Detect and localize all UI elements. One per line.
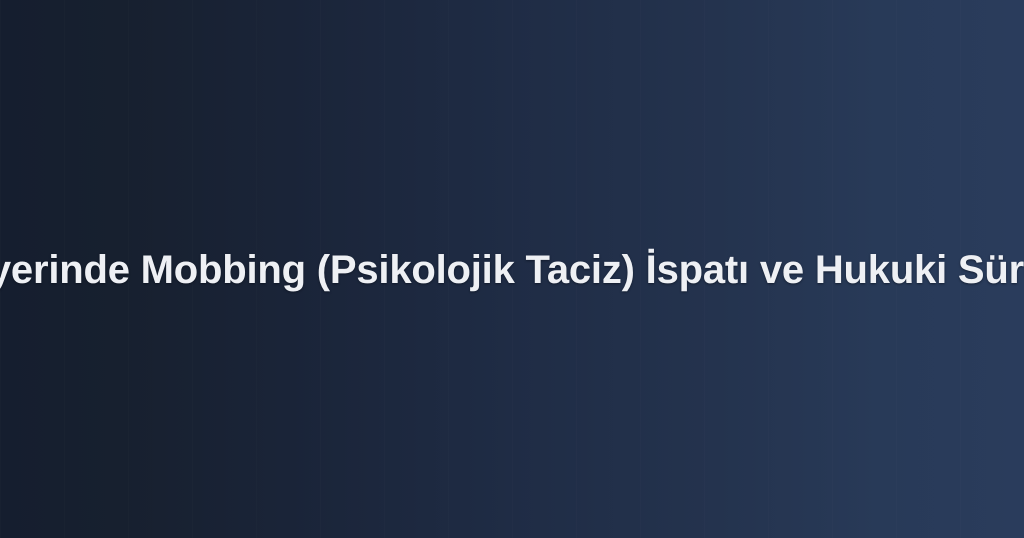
headline-container: İşyerinde Mobbing (Psikolojik Taciz) İsp… xyxy=(0,0,1024,538)
share-banner: İşyerinde Mobbing (Psikolojik Taciz) İsp… xyxy=(0,0,1024,538)
page-title: İşyerinde Mobbing (Psikolojik Taciz) İsp… xyxy=(0,247,1024,294)
